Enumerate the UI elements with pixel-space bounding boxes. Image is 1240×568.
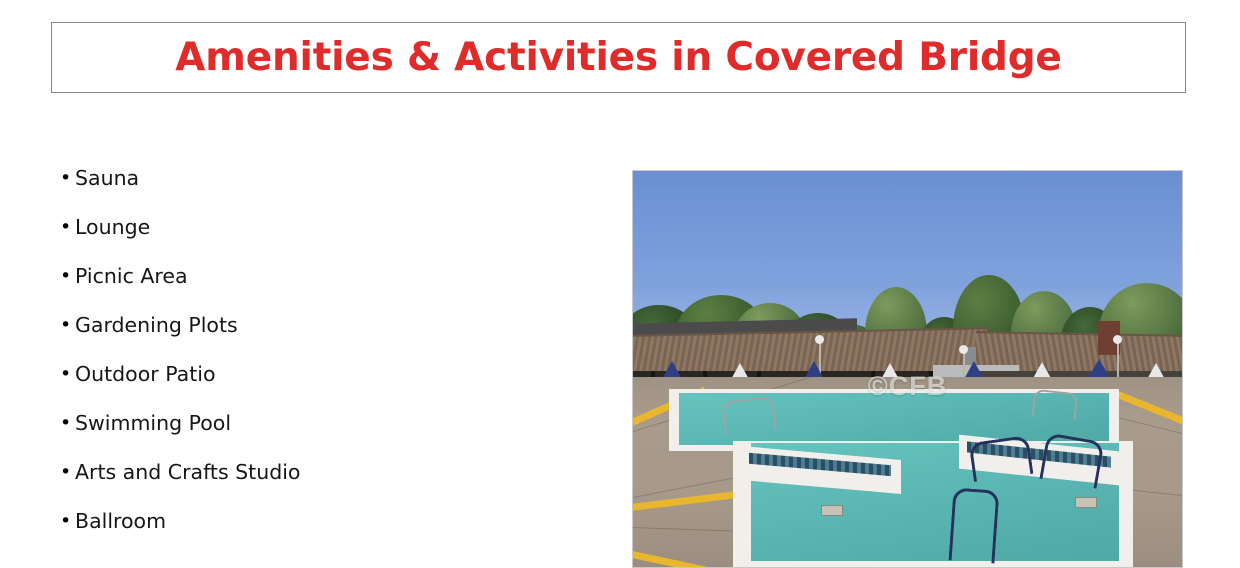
list-item: • Arts and Crafts Studio [60,460,580,509]
list-item-label: Picnic Area [75,264,188,288]
list-item: • Swimming Pool [60,411,580,460]
list-item-label: Gardening Plots [75,313,238,337]
lamp-head-icon [959,345,968,354]
list-item: • Picnic Area [60,264,580,313]
bullet-icon: • [60,215,75,239]
list-item: • Outdoor Patio [60,362,580,411]
bullet-icon: • [60,362,75,386]
pool-handrail [969,435,1034,482]
page-title: Amenities & Activities in Covered Bridge [175,38,1061,77]
photo-scene: ©CFB [633,171,1182,567]
pool-ladder [721,396,777,436]
bullet-icon: • [60,411,75,435]
list-item: • Lounge [60,215,580,264]
list-item-label: Lounge [75,215,150,239]
bullet-icon: • [60,509,75,533]
pool-handrail [949,487,1000,563]
deck-drain [1075,497,1097,508]
list-item-label: Arts and Crafts Studio [75,460,300,484]
bullet-icon: • [60,166,75,190]
pool-handrail [1039,432,1104,488]
list-item-label: Outdoor Patio [75,362,216,386]
amenities-list: • Sauna • Lounge • Picnic Area • Gardeni… [60,166,580,558]
pool-photograph: ©CFB [632,170,1183,568]
list-item: • Ballroom [60,509,580,558]
deck-drain [821,505,843,516]
pool-ladder [1032,389,1079,421]
bullet-icon: • [60,460,75,484]
pool-deck [633,377,1182,567]
list-item: • Gardening Plots [60,313,580,362]
lamp-head-icon [1113,335,1122,344]
bullet-icon: • [60,313,75,337]
bullet-icon: • [60,264,75,288]
list-item: • Sauna [60,166,580,215]
slide-canvas: { "slide": { "title": "Amenities & Activ… [0,0,1240,568]
list-item-label: Swimming Pool [75,411,231,435]
title-box: Amenities & Activities in Covered Bridge [51,22,1186,93]
list-item-label: Ballroom [75,509,166,533]
list-item-label: Sauna [75,166,139,190]
lamp-head-icon [815,335,824,344]
